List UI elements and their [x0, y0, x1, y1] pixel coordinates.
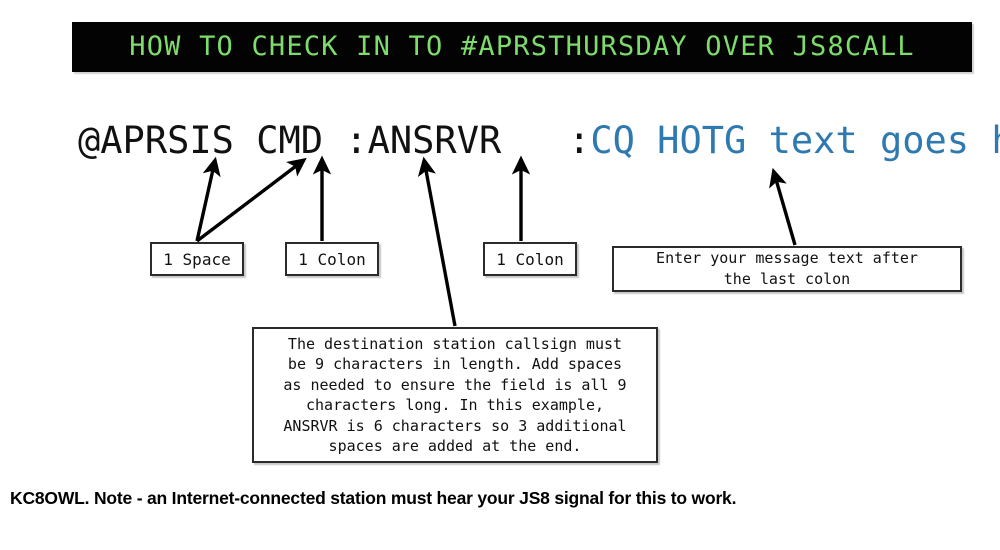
arrow-to-space-2	[197, 163, 300, 241]
title-banner: HOW TO CHECK IN TO #APRSTHURSDAY OVER JS…	[72, 22, 972, 72]
page-title: HOW TO CHECK IN TO #APRSTHURSDAY OVER JS…	[72, 22, 972, 72]
callout-destination-callsign: The destination station callsign must be…	[252, 327, 658, 463]
command-example-line: @APRSIS CMD :ANSRVR :CQ HOTG text goes h…	[78, 118, 1000, 164]
callout-one-colon-second-label: 1 Colon	[496, 250, 563, 269]
callout-one-space-label: 1 Space	[163, 250, 230, 269]
callout-destination-callsign-text: The destination station callsign must be…	[283, 334, 626, 457]
callout-message-instruction-text: Enter your message text after the last c…	[656, 248, 918, 290]
callout-one-colon-first-label: 1 Colon	[298, 250, 365, 269]
arrow-to-trailing-spaces	[425, 165, 455, 326]
command-blue-segment: CQ HOTG text goes here	[590, 119, 1000, 162]
callout-one-colon-second: 1 Colon	[483, 242, 577, 276]
callout-message-instruction: Enter your message text after the last c…	[612, 246, 962, 292]
arrow-to-message-text	[775, 176, 795, 245]
command-black-segment: @APRSIS CMD :ANSRVR :	[78, 119, 590, 162]
footer-note: KC8OWL. Note - an Internet-connected sta…	[10, 488, 990, 509]
slide-canvas: HOW TO CHECK IN TO #APRSTHURSDAY OVER JS…	[0, 0, 1000, 550]
callout-one-colon-first: 1 Colon	[285, 242, 379, 276]
arrow-to-space-1	[197, 165, 214, 241]
callout-one-space: 1 Space	[150, 242, 244, 276]
